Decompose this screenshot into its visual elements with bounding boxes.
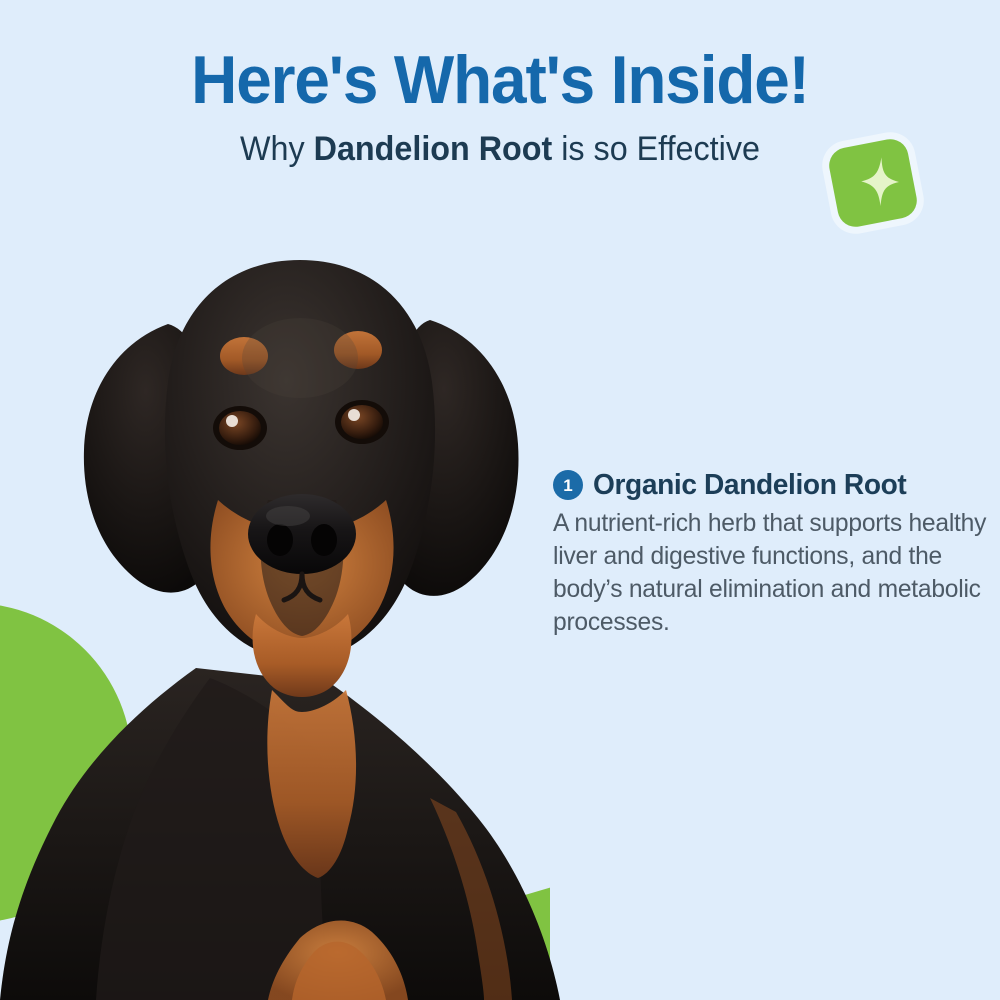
ingredient-heading: 1 Organic Dandelion Root: [553, 470, 995, 500]
ingredient-number-badge: 1: [553, 470, 583, 500]
subtitle-text-after: is so Effective: [552, 130, 760, 168]
page-title: Here's What's Inside!: [30, 0, 970, 114]
sparkle-badge-icon: [824, 134, 922, 232]
subtitle-highlight: Dandelion Root: [314, 130, 553, 168]
dog-photo: [0, 238, 600, 1000]
ingredient-info: 1 Organic Dandelion Root A nutrient-rich…: [553, 470, 995, 639]
ingredient-description: A nutrient-rich herb that supports healt…: [553, 507, 988, 639]
subtitle-text-before: Why: [240, 130, 314, 168]
sparkle-star-icon: [839, 149, 907, 217]
product-infographic-card: Here's What's Inside! Why Dandelion Root…: [0, 0, 1000, 1000]
ingredient-title: Organic Dandelion Root: [593, 470, 906, 500]
